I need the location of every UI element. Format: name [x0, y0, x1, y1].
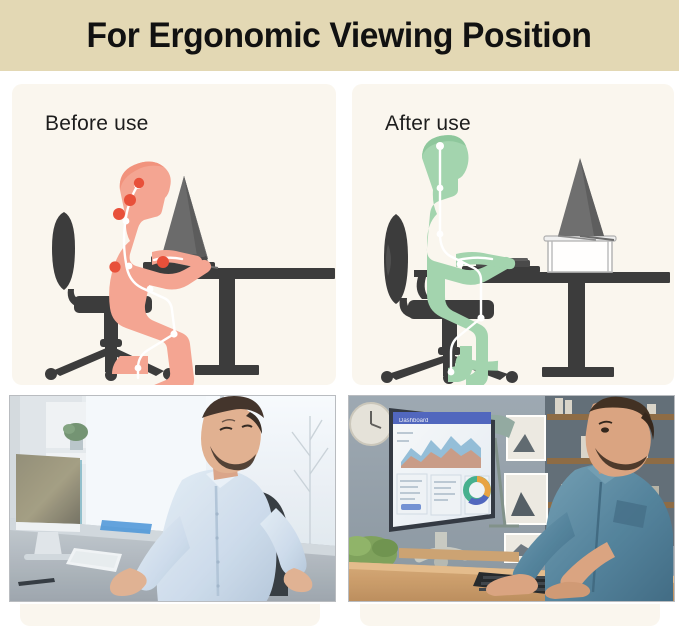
- page-title: For Ergonomic Viewing Position: [87, 18, 592, 53]
- bottom-strip-left: [20, 604, 320, 626]
- figure-before: [109, 161, 211, 385]
- monitor-after: [558, 158, 614, 240]
- chair-after: [381, 214, 518, 384]
- photo-after-illustration: Dashboard: [349, 396, 675, 602]
- photo-after-use: Dashboard: [348, 395, 675, 602]
- desk-after: [462, 266, 670, 377]
- figure-after: [422, 135, 515, 385]
- panel-before-use: Before use: [12, 84, 336, 385]
- monitor-riser-stand: [544, 236, 616, 272]
- photo-before-use: [9, 395, 336, 602]
- header-band: For Ergonomic Viewing Position: [0, 0, 679, 71]
- bottom-strip-right: [360, 604, 660, 626]
- illustration-after-use: [352, 84, 674, 385]
- panel-after-use: After use: [352, 84, 674, 385]
- illustration-before-use: [12, 84, 336, 385]
- photo-before-illustration: [10, 396, 336, 602]
